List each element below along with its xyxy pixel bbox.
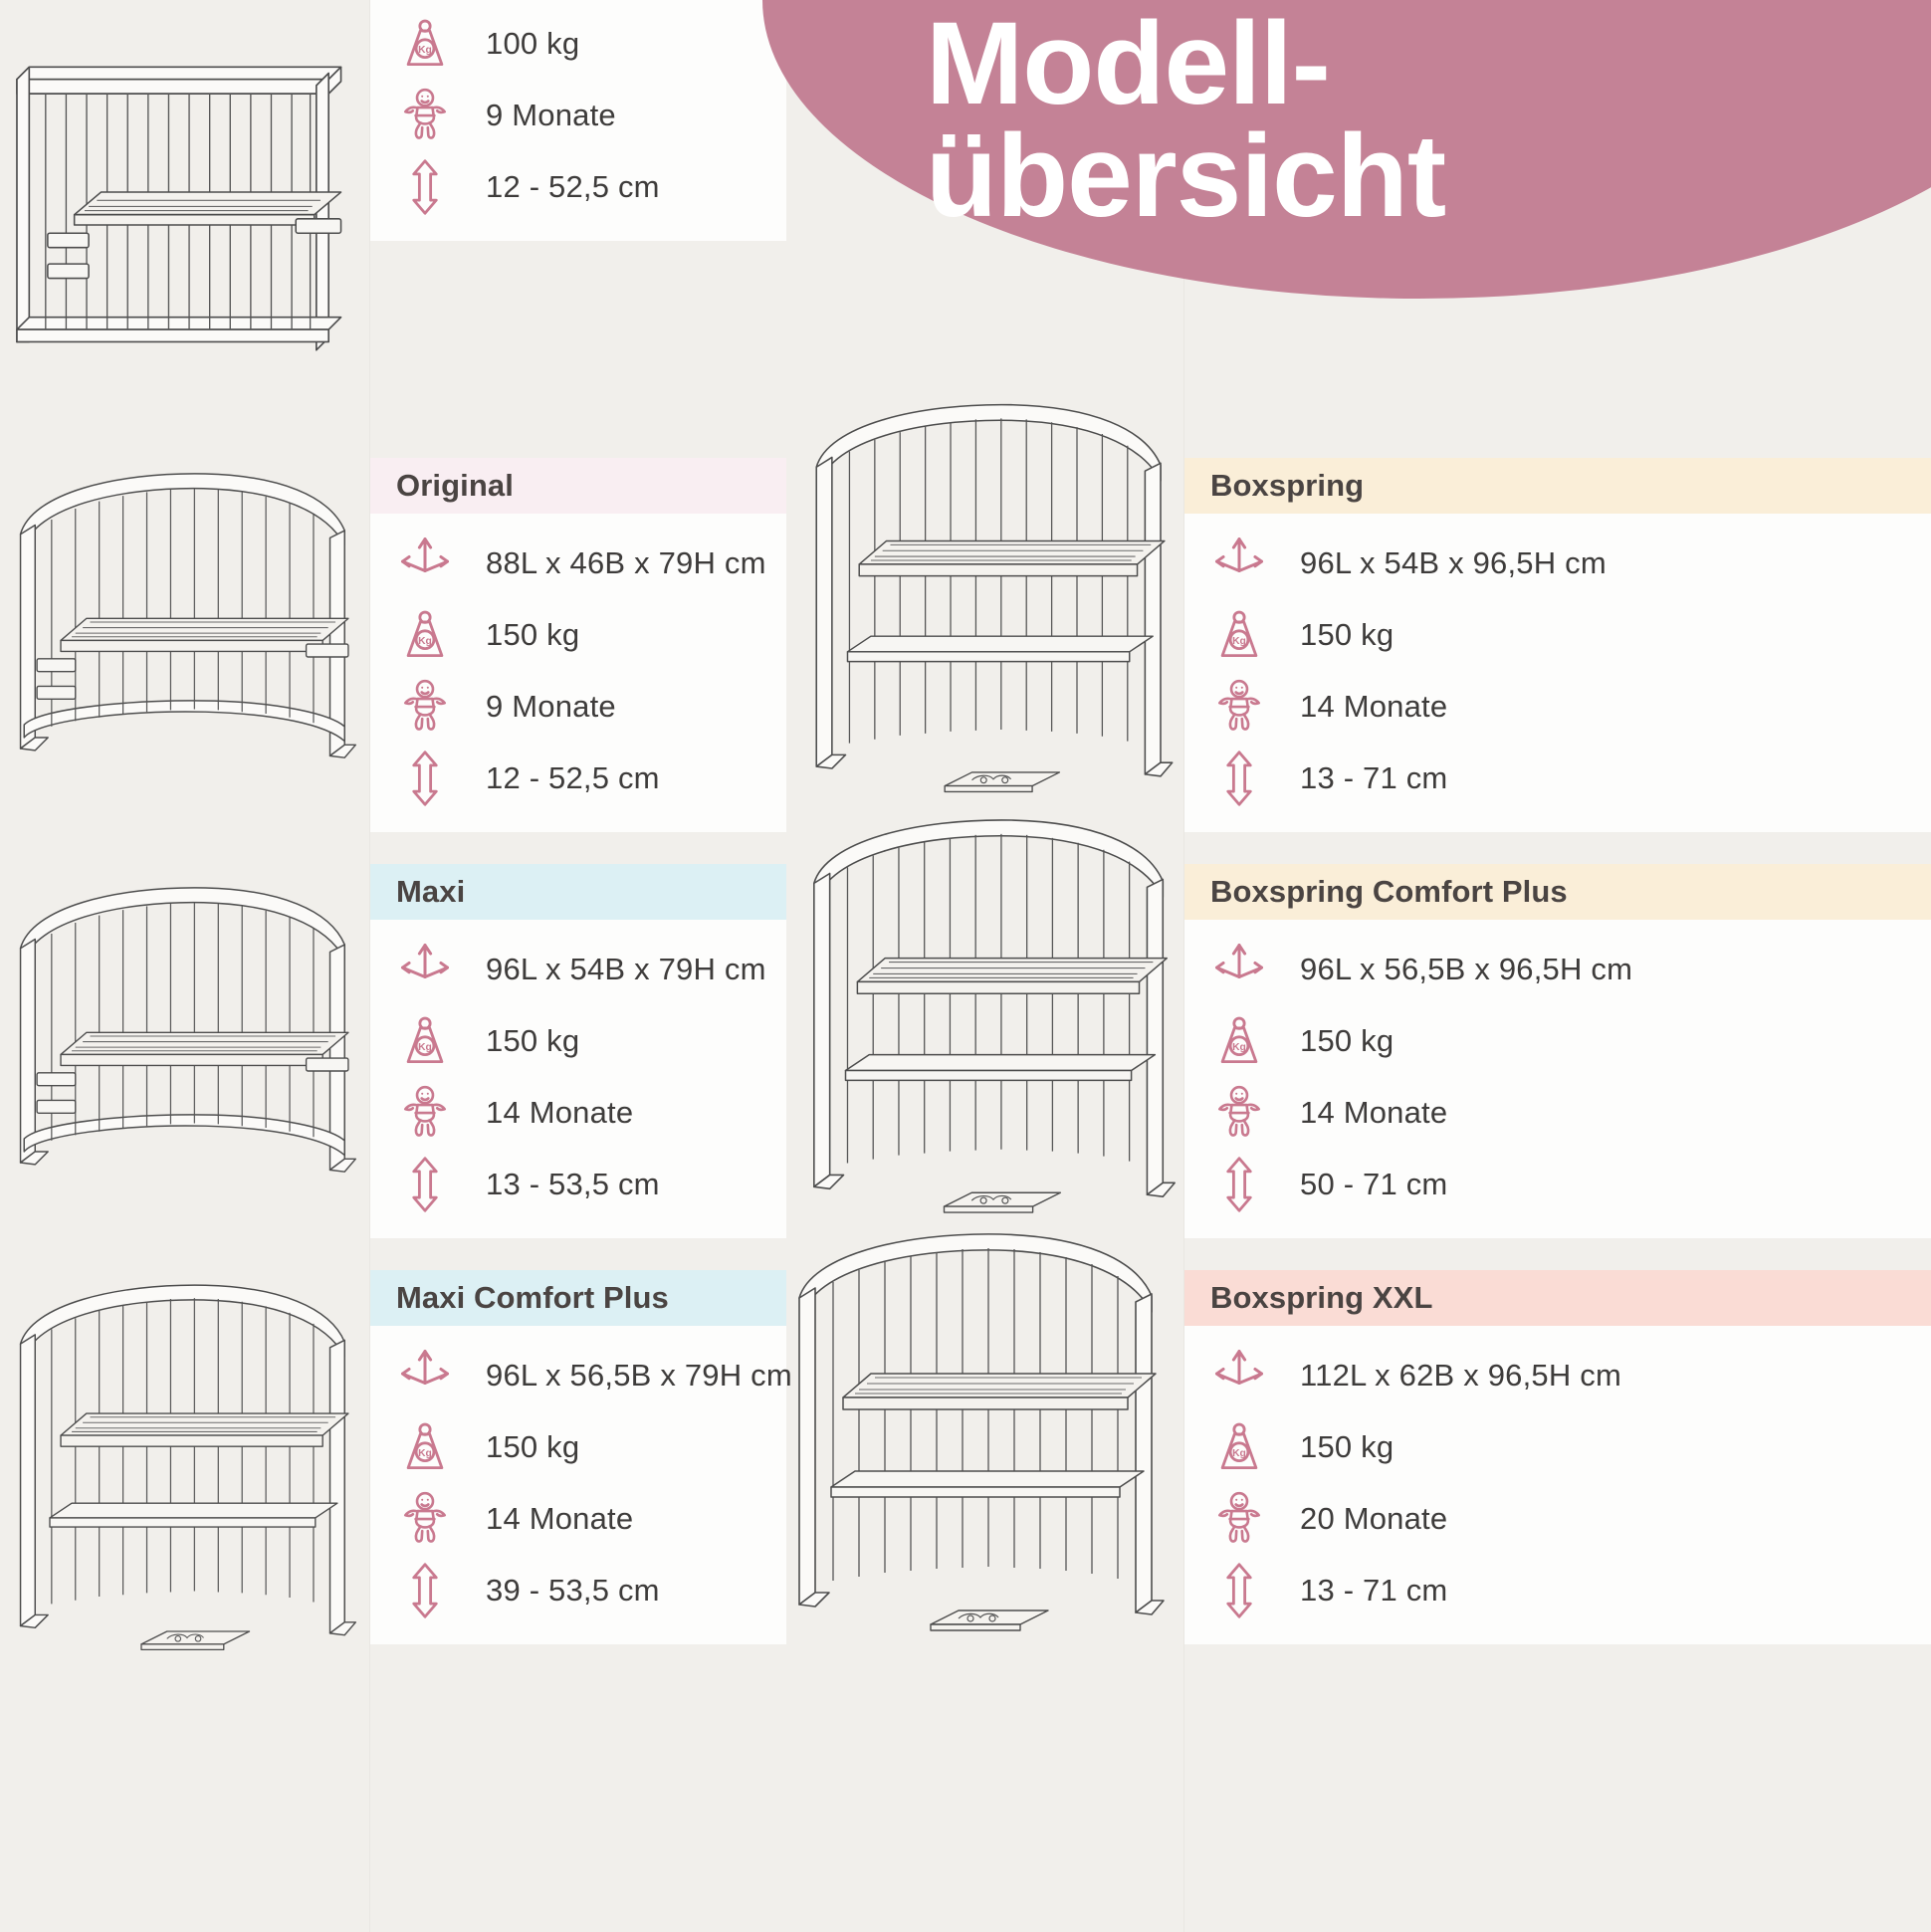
spec-row-dimensions: 112L x 62B x 96,5H cm — [1184, 1340, 1931, 1411]
spec-row-dimensions: 96L x 56,5B x 96,5H cm — [1184, 934, 1931, 1005]
dimensions-icon — [1206, 1343, 1272, 1408]
height-arrow-icon — [392, 746, 458, 811]
dimensions-icon — [392, 531, 458, 596]
height-arrow-icon — [1206, 1558, 1272, 1623]
crib-illustration-maxi-comfort-plus — [4, 1242, 370, 1700]
spec-row-age: 14 Monate — [1184, 1077, 1931, 1149]
weight-icon — [392, 1414, 458, 1480]
baby-icon — [392, 1486, 458, 1552]
spec-row-dimensions: 88L x 46B x 79H cm — [370, 528, 786, 599]
baby-icon — [392, 1080, 458, 1146]
spec-value-dimensions: 112L x 62B x 96,5H cm — [1300, 1358, 1621, 1394]
spec-value-height: 13 - 71 cm — [1300, 1573, 1447, 1609]
model-spec-body: 96L x 54B x 79H cm 150 kg 14 Monate 13 -… — [370, 920, 786, 1238]
model-spec-body: 96L x 56,5B x 96,5H cm 150 kg 14 Monate … — [1184, 920, 1931, 1238]
spec-value-weight: 150 kg — [486, 1429, 579, 1465]
model-spec-body: 96L x 56,5B x 79H cm 150 kg 14 Monate 39… — [370, 1326, 786, 1644]
model-title: Maxi — [396, 874, 465, 910]
spec-row-height: 13 - 53,5 cm — [370, 1149, 786, 1220]
model-block-maxi: Maxi 96L x 54B x 79H cm 150 kg 14 Monat — [370, 864, 786, 1238]
crib-illustration-top — [0, 22, 382, 360]
spec-row-height: 13 - 71 cm — [1184, 1555, 1931, 1626]
model-title-band: Maxi — [370, 864, 786, 920]
spec-value-height: 12 - 52,5 cm — [486, 760, 660, 796]
model-block-top: 88L x 44,5B x 79H cm 100 kg 9 Monate 12 … — [370, 0, 786, 241]
weight-icon — [392, 11, 458, 77]
weight-icon — [1206, 1414, 1272, 1480]
page-title-line1: Modell- — [926, 8, 1931, 120]
spec-value-dimensions: 96L x 54B x 79H cm — [486, 952, 766, 987]
model-spec-body: 88L x 44,5B x 79H cm 100 kg 9 Monate 12 … — [370, 0, 786, 241]
weight-icon — [1206, 1008, 1272, 1074]
spec-value-weight: 150 kg — [486, 617, 579, 653]
spec-value-height: 13 - 71 cm — [1300, 760, 1447, 796]
spec-row-height: 39 - 53,5 cm — [370, 1555, 786, 1626]
spec-row-age: 14 Monate — [370, 1077, 786, 1149]
model-title-band: Boxspring Comfort Plus — [1184, 864, 1931, 920]
model-title: Boxspring Comfort Plus — [1210, 874, 1568, 910]
baby-icon — [1206, 1486, 1272, 1552]
dimensions-icon — [1206, 937, 1272, 1002]
spec-value-weight: 150 kg — [1300, 1023, 1394, 1059]
model-block-maxi-comfort-plus: Maxi Comfort Plus 96L x 56,5B x 79H cm 1… — [370, 1270, 786, 1644]
baby-icon — [392, 674, 458, 740]
model-spec-body: 112L x 62B x 96,5H cm 150 kg 20 Monate 1… — [1184, 1326, 1931, 1644]
spec-value-height: 39 - 53,5 cm — [486, 1573, 660, 1609]
height-arrow-icon — [392, 1152, 458, 1217]
model-title: Boxspring — [1210, 468, 1364, 504]
spec-value-age: 14 Monate — [1300, 1095, 1447, 1131]
spec-row-height: 13 - 71 cm — [1184, 743, 1931, 814]
model-title: Maxi Comfort Plus — [396, 1280, 669, 1316]
dimensions-icon — [392, 1343, 458, 1408]
spec-row-weight: 150 kg — [1184, 1411, 1931, 1483]
spec-value-dimensions: 88L x 46B x 79H cm — [486, 545, 766, 581]
dimensions-icon — [1206, 531, 1272, 596]
model-spec-body: 96L x 54B x 96,5H cm 150 kg 14 Monate 13… — [1184, 514, 1931, 832]
page-title: Modell- übersicht — [926, 8, 1931, 234]
model-block-boxspring: Boxspring 96L x 54B x 96,5H cm 150 kg 1 — [1184, 458, 1931, 832]
height-arrow-icon — [392, 1558, 458, 1623]
spec-row-age: 14 Monate — [1184, 671, 1931, 743]
weight-icon — [392, 1008, 458, 1074]
dimensions-icon — [392, 0, 458, 5]
spec-value-age: 20 Monate — [1300, 1501, 1447, 1537]
weight-icon — [392, 602, 458, 668]
model-title: Boxspring XXL — [1210, 1280, 1433, 1316]
model-block-boxspring-xxl: Boxspring XXL 112L x 62B x 96,5H cm 150 … — [1184, 1270, 1931, 1644]
spec-row-weight: 150 kg — [370, 1411, 786, 1483]
dimensions-icon — [392, 937, 458, 1002]
spec-value-weight: 100 kg — [486, 26, 579, 62]
spec-row-dimensions: 96L x 54B x 79H cm — [370, 934, 786, 1005]
model-title-band: Maxi Comfort Plus — [370, 1270, 786, 1326]
spec-value-age: 14 Monate — [486, 1501, 633, 1537]
crib-illustration-boxspring — [796, 393, 1190, 811]
spec-row-weight: 100 kg — [370, 8, 786, 80]
baby-icon — [1206, 1080, 1272, 1146]
spec-value-age: 9 Monate — [486, 98, 616, 133]
crib-illustration-boxspring-comfort-plus — [796, 806, 1190, 1234]
spec-row-height: 50 - 71 cm — [1184, 1149, 1931, 1220]
weight-icon — [1206, 602, 1272, 668]
spec-value-dimensions: 96L x 56,5B x 96,5H cm — [1300, 952, 1632, 987]
spec-value-weight: 150 kg — [1300, 1429, 1394, 1465]
spec-row-age: 9 Monate — [370, 80, 786, 151]
height-arrow-icon — [1206, 746, 1272, 811]
spec-row-age: 20 Monate — [1184, 1483, 1931, 1555]
spec-row-dimensions: 96L x 56,5B x 79H cm — [370, 1340, 786, 1411]
spec-value-age: 14 Monate — [486, 1095, 633, 1131]
spec-row-weight: 150 kg — [1184, 599, 1931, 671]
spec-row-weight: 150 kg — [370, 599, 786, 671]
height-arrow-icon — [392, 154, 458, 220]
spec-row-dimensions: 96L x 54B x 96,5H cm — [1184, 528, 1931, 599]
spec-value-height: 50 - 71 cm — [1300, 1167, 1447, 1202]
spec-value-height: 13 - 53,5 cm — [486, 1167, 660, 1202]
model-title: Original — [396, 468, 514, 504]
crib-illustration-maxi — [4, 832, 370, 1218]
model-title-band: Original — [370, 458, 786, 514]
model-block-boxspring-comfort-plus: Boxspring Comfort Plus 96L x 56,5B x 96,… — [1184, 864, 1931, 1238]
crib-illustration-original — [4, 418, 370, 804]
spec-row-weight: 150 kg — [370, 1005, 786, 1077]
spec-row-height: 12 - 52,5 cm — [370, 151, 786, 223]
height-arrow-icon — [1206, 1152, 1272, 1217]
model-spec-body: 88L x 46B x 79H cm 150 kg 9 Monate 12 - … — [370, 514, 786, 832]
spec-value-weight: 150 kg — [486, 1023, 579, 1059]
spec-value-age: 9 Monate — [486, 689, 616, 725]
model-block-original: Original 88L x 46B x 79H cm 150 kg 9 Mo — [370, 458, 786, 832]
baby-icon — [392, 83, 458, 148]
page-title-line2: übersicht — [926, 120, 1931, 233]
crib-illustration-boxspring-xxl — [766, 1222, 1194, 1650]
spec-value-weight: 150 kg — [1300, 617, 1394, 653]
spec-row-dimensions: 88L x 44,5B x 79H cm — [370, 0, 786, 8]
spec-column-left: 88L x 44,5B x 79H cm 100 kg 9 Monate 12 … — [370, 0, 786, 1932]
spec-value-dimensions: 96L x 54B x 96,5H cm — [1300, 545, 1607, 581]
model-overview-board: Kg — [0, 0, 1931, 1932]
spec-value-height: 12 - 52,5 cm — [486, 169, 660, 205]
model-title-band: Boxspring XXL — [1184, 1270, 1931, 1326]
spec-row-weight: 150 kg — [1184, 1005, 1931, 1077]
spec-value-age: 14 Monate — [1300, 689, 1447, 725]
spec-row-height: 12 - 52,5 cm — [370, 743, 786, 814]
model-title-band: Boxspring — [1184, 458, 1931, 514]
baby-icon — [1206, 674, 1272, 740]
spec-value-dimensions: 96L x 56,5B x 79H cm — [486, 1358, 792, 1394]
spec-row-age: 9 Monate — [370, 671, 786, 743]
spec-row-age: 14 Monate — [370, 1483, 786, 1555]
